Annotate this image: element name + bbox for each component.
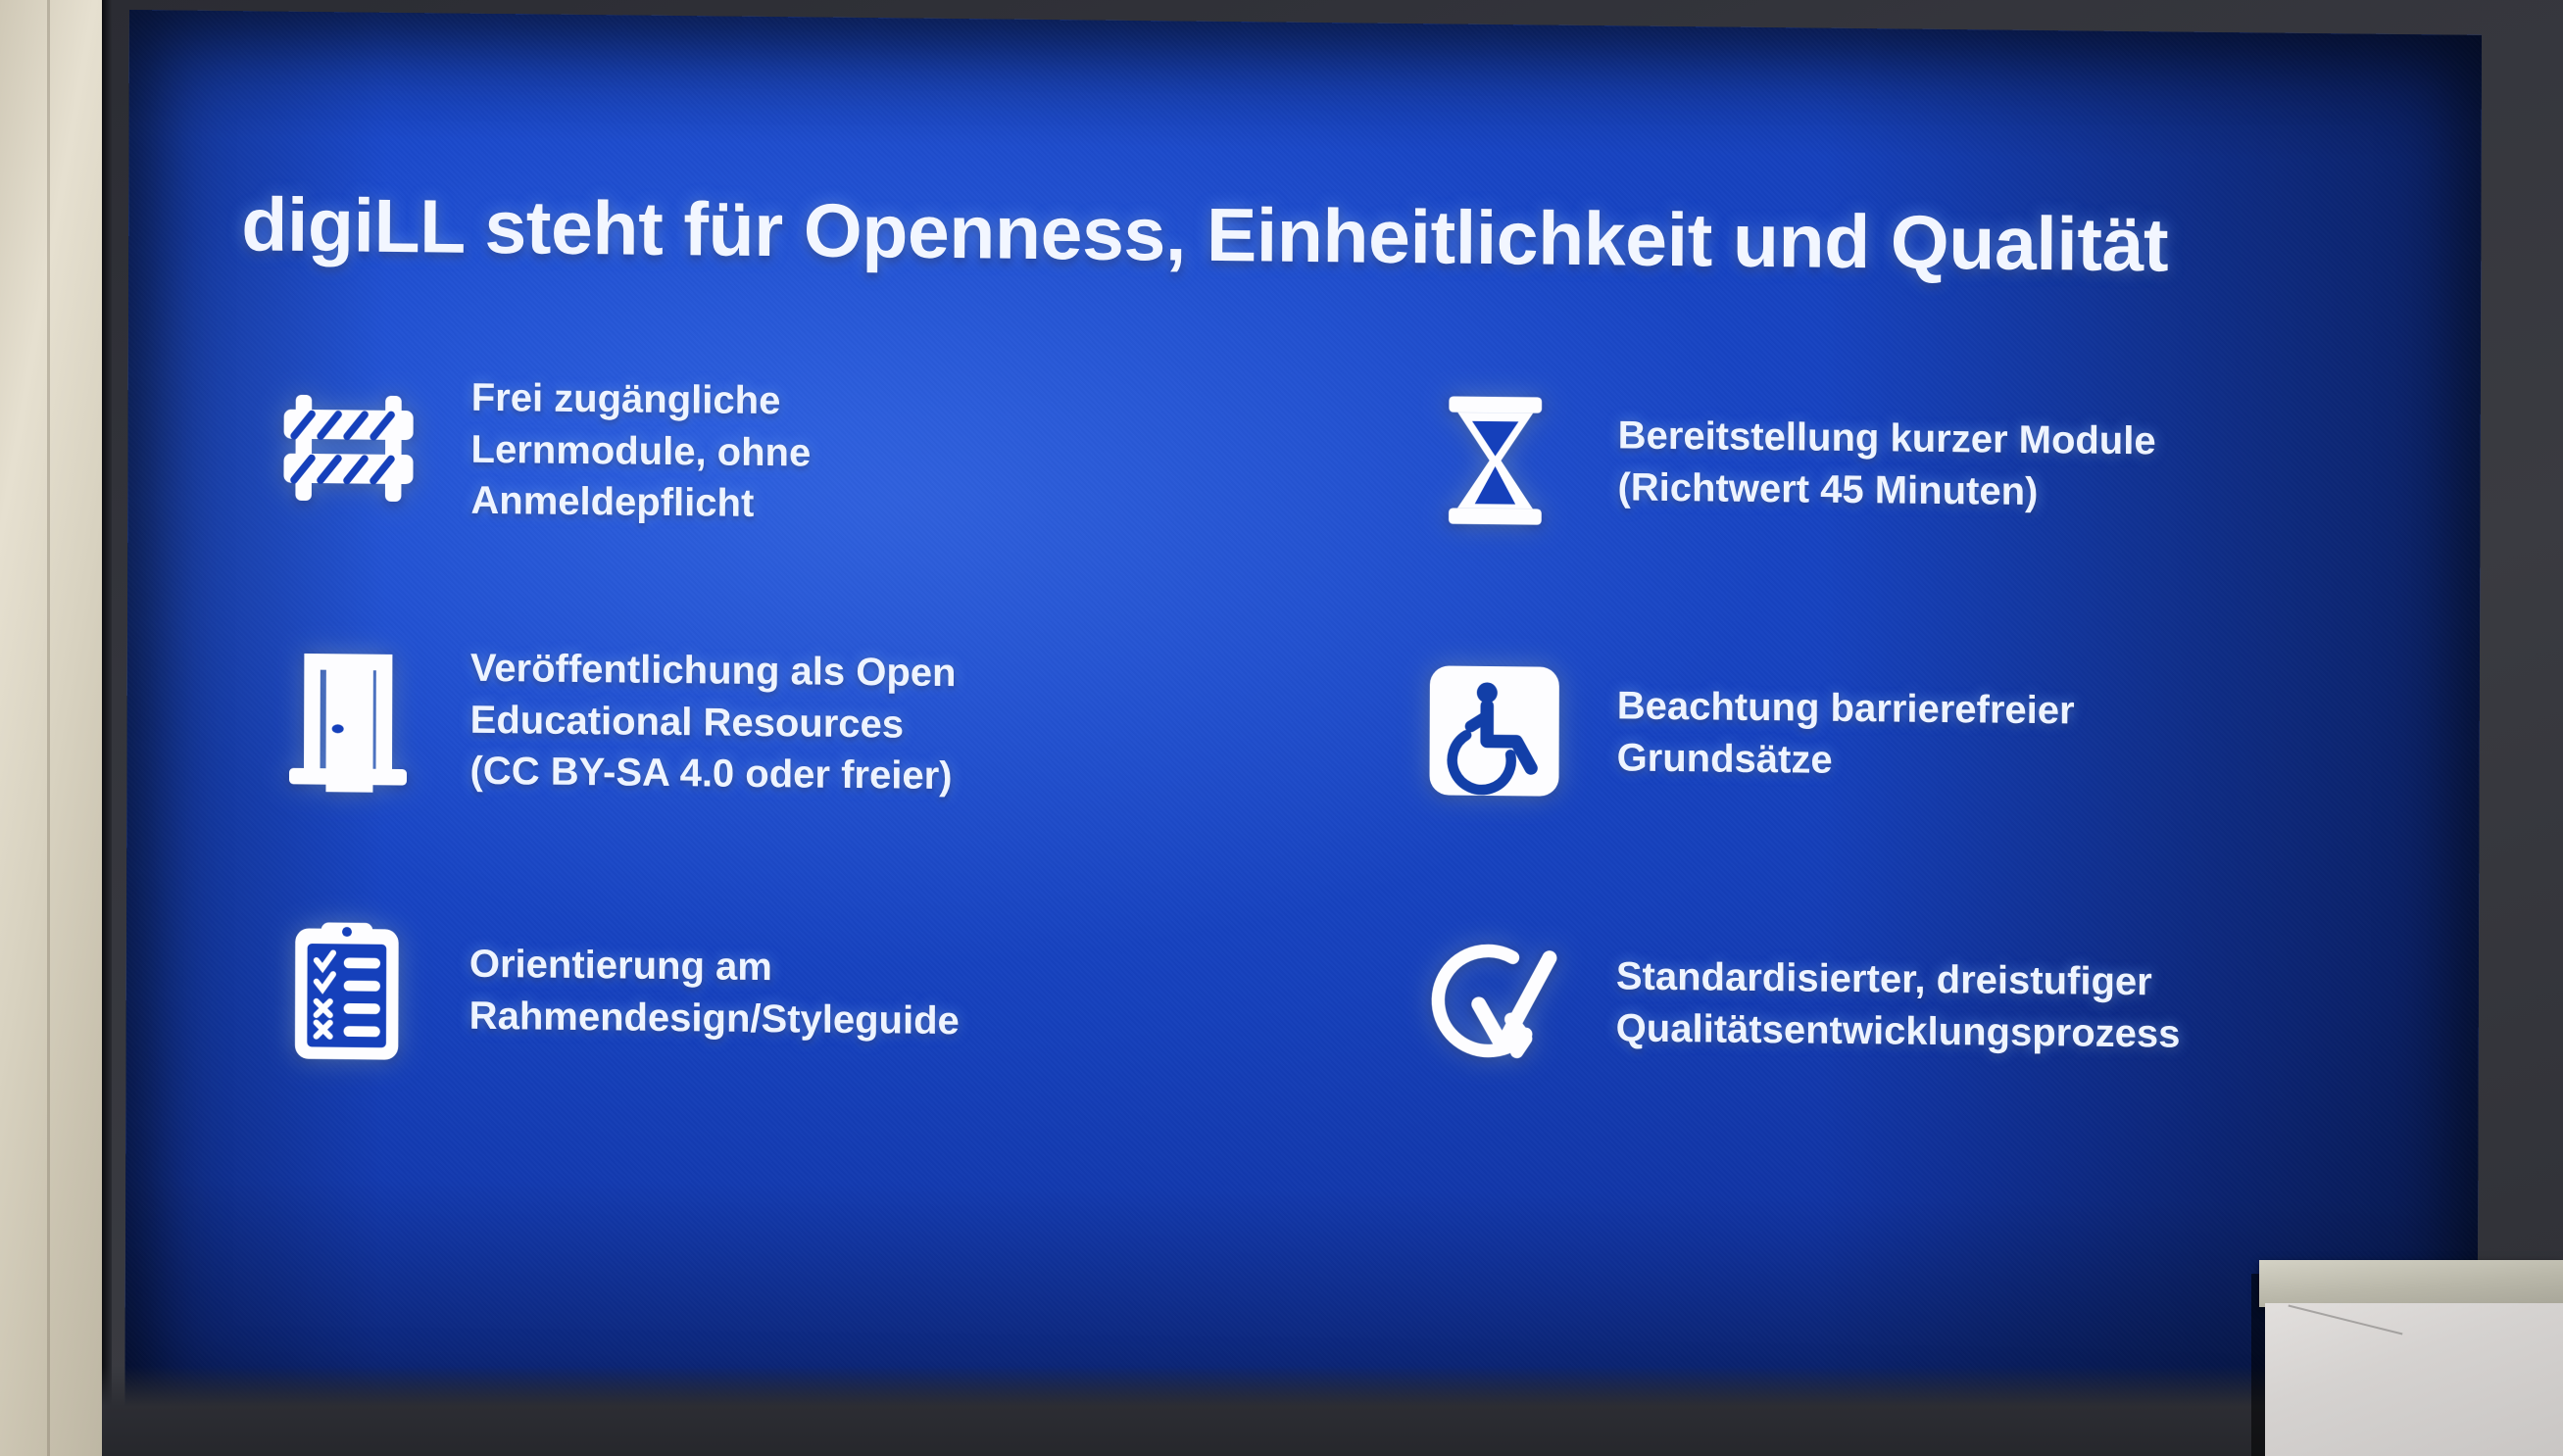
clipboard-checklist-icon xyxy=(223,875,469,1103)
feature-text: Standardisierter, dreistufiger Qualitäts… xyxy=(1616,951,2181,1061)
wall-left-strip xyxy=(0,0,106,1456)
screen-left-edge xyxy=(102,0,112,1456)
feature-text: Frei zugängliche Lernmodule, ohne Anmeld… xyxy=(470,372,811,531)
feature-text: Bereitstellung kurzer Module (Richtwert … xyxy=(1617,411,2155,520)
wall-below-screen xyxy=(102,1366,2563,1456)
feature-text: Orientierung am Rahmendesign/Styleguide xyxy=(469,939,960,1047)
feature-grid: Frei zugängliche Lernmodule, ohne Anmeld… xyxy=(125,333,2481,1170)
feature-item-quality-cycle: Standardisierter, dreistufiger Qualitäts… xyxy=(1331,887,2479,1125)
feature-row: Frei zugängliche Lernmodule, ohne Anmeld… xyxy=(127,333,2481,629)
photo-scene: digiLL steht für Openness, Einheitlichke… xyxy=(0,0,2563,1456)
feature-item-hourglass: Bereitstellung kurzer Module (Richtwert … xyxy=(1333,346,2481,584)
feature-row: Orientierung am Rahmendesign/Styleguide xyxy=(125,874,2479,1170)
wheelchair-accessibility-icon xyxy=(1371,617,1617,846)
feature-item-open-door: Veröffentlichung als Open Educational Re… xyxy=(126,604,1333,842)
feature-item-accessibility: Beachtung barrierefreier Grundsätze xyxy=(1332,616,2480,854)
feature-item-clipboard: Orientierung am Rahmendesign/Styleguide xyxy=(125,874,1332,1112)
slide-title: digiLL steht für Openness, Einheitlichke… xyxy=(241,185,2280,287)
feature-text: Veröffentlichung als Open Educational Re… xyxy=(469,643,956,803)
feature-text: Beachtung barrierefreier Grundsätze xyxy=(1617,681,2075,790)
flipchart-easel xyxy=(2251,1260,2563,1456)
barrier-icon xyxy=(225,334,471,562)
feature-item-barrier: Frei zugängliche Lernmodule, ohne Anmeld… xyxy=(127,333,1334,571)
presentation-slide: digiLL steht für Openness, Einheitlichke… xyxy=(124,10,2482,1456)
projected-slide-area: digiLL steht für Openness, Einheitlichke… xyxy=(124,10,2482,1456)
feature-row: Veröffentlichung als Open Educational Re… xyxy=(126,604,2480,899)
hourglass-icon xyxy=(1372,347,1618,575)
flipchart-paper xyxy=(2265,1303,2563,1456)
cycle-checkmark-icon xyxy=(1370,888,1616,1116)
open-door-icon xyxy=(224,605,470,833)
flipchart-top-rail xyxy=(2259,1260,2563,1307)
